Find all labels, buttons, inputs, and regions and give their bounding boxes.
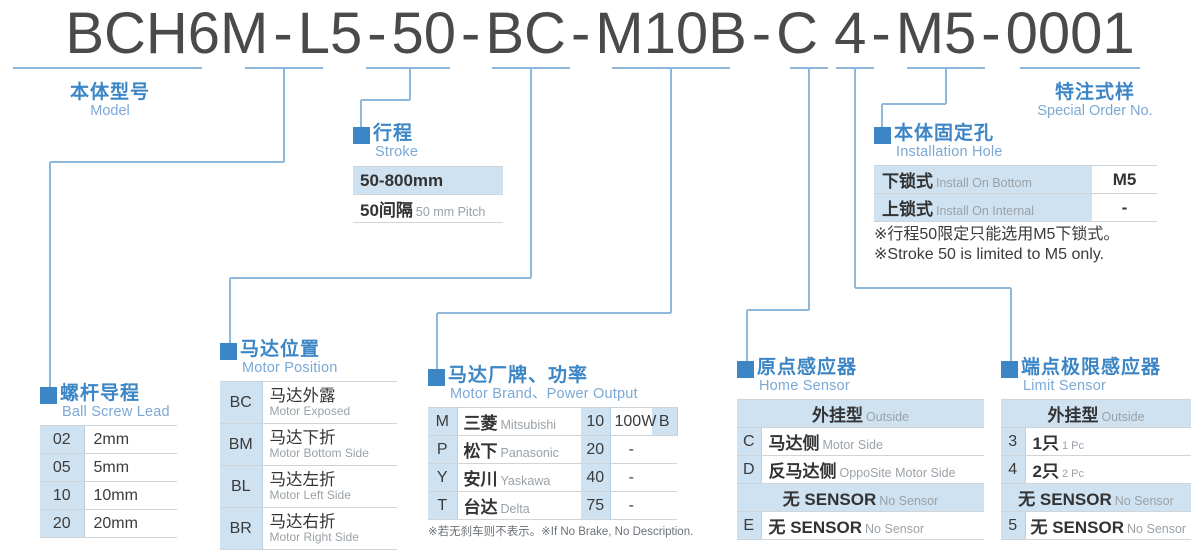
brake-code [652,436,677,464]
group-motor-brand-power-heading: 马达厂牌、功率 [428,366,693,386]
installation-hole-table: 下锁式Install On Bottom M5 上锁式Install On In… [874,165,1157,222]
table-row[interactable]: BC 马达外露 Motor Exposed [220,382,397,424]
model-code-segment-1: L5 [297,0,364,67]
label-model: 本体型号 Model [45,82,175,120]
table-row[interactable]: 02 2mm [40,426,177,454]
brand-name: 台达Delta [457,492,581,520]
install-bottom-cn: 下锁式 [882,172,933,191]
install-bottom-en: Install On Bottom [936,176,1032,190]
motor-position-desc-cn: 马达左折 [270,472,394,489]
limit-sensor-header-en: No Sensor [1115,494,1174,508]
group-motor-position-title-cn: 马达位置 [240,340,320,360]
install-bottom-label: 下锁式Install On Bottom [874,166,1092,194]
motor-position-desc-en: Motor Exposed [270,405,394,417]
installation-hole-note-cn: ※行程50限定只能选用M5下锁式。 [874,226,1119,243]
table-row[interactable]: T 台达Delta 75 - [428,492,677,520]
installation-hole-notes: ※行程50限定只能选用M5下锁式。 ※Stroke 50 is limited … [874,225,1157,265]
bullet-square-icon [428,369,445,386]
install-internal-cn: 上锁式 [882,200,933,219]
brand-name-cn: 松下 [464,442,498,461]
label-special-order-en: Special Order No. [1005,103,1185,120]
model-code-segment-0: BCH6M [64,0,269,67]
home-sensor-header-cn: 无 SENSOR [783,490,877,509]
limit-sensor-desc: 2只2 Pc [1025,456,1191,484]
home-sensor-code: E [737,512,761,540]
limit-sensor-desc-en: 1 Pc [1062,440,1084,452]
limit-sensor-desc-cn: 1只 [1033,434,1059,453]
brand-name-en: Panasonic [501,446,559,460]
group-ball-screw-lead-title-en: Ball Screw Lead [62,404,177,420]
limit-sensor-desc-cn: 无 SENSOR [1031,518,1125,537]
lead-value: 5mm [84,454,177,482]
home-sensor-section-header: 外挂型Outside [737,400,984,428]
group-limit-sensor: 端点极限感应器 Limit Sensor 外挂型Outside 3 1只1 Pc… [1001,358,1191,540]
stroke-range-value: 50-800mm [360,171,443,190]
bullet-square-icon [1001,361,1018,378]
home-sensor-header-cn: 外挂型 [812,406,863,425]
home-sensor-table: 外挂型Outside C 马达侧Motor Side D 反马达侧OppoSit… [737,399,984,540]
power-code: 75 [581,492,610,520]
lead-code: 10 [40,482,84,510]
table-row[interactable]: BR 马达右折 Motor Right Side [220,508,397,550]
table-row[interactable]: 05 5mm [40,454,177,482]
table-row[interactable]: BM 马达下折 Motor Bottom Side [220,424,397,466]
motor-position-desc-en: Motor Right Side [270,531,394,543]
bullet-square-icon [40,387,57,404]
table-row[interactable]: 无 SENSORNo Sensor [1001,484,1191,512]
model-code-title: BCH6M-L5-50-BC-M10B-C 4-M5-0001 [0,2,1200,64]
limit-sensor-desc-en: No Sensor [1127,522,1186,536]
brand-name: 安川Yaskawa [457,464,581,492]
limit-sensor-desc: 无 SENSORNo Sensor [1025,512,1191,540]
brand-name-en: Yaskawa [501,474,551,488]
table-row[interactable]: 上锁式Install On Internal - [874,194,1157,222]
stroke-pitch-en: 50 mm Pitch [416,205,485,219]
power-code: 20 [581,436,610,464]
limit-sensor-code: 4 [1001,456,1025,484]
home-sensor-section-header: 无 SENSORNo Sensor [737,484,984,512]
home-sensor-desc-en: No Sensor [865,522,924,536]
bullet-square-icon [353,127,370,144]
motor-position-table: BC 马达外露 Motor Exposed BM 马达下折 Motor Bott… [220,381,397,550]
table-row[interactable]: 10 10mm [40,482,177,510]
limit-sensor-section-header: 外挂型Outside [1001,400,1191,428]
group-ball-screw-lead-title-cn: 螺杆导程 [60,384,140,404]
install-bottom-value-text: M5 [1113,170,1137,189]
group-limit-sensor-title-cn: 端点极限感应器 [1021,358,1161,378]
lead-code: 20 [40,510,84,538]
limit-sensor-code: 5 [1001,512,1025,540]
model-code-dash: - [567,0,594,67]
table-row[interactable]: 下锁式Install On Bottom M5 [874,166,1157,194]
home-sensor-desc-cn: 反马达侧 [769,462,837,481]
install-internal-value-text: - [1122,198,1128,217]
motor-brand-power-footnote: ※若无刹车则不表示。※If No Brake, No Description. [428,523,693,539]
power-value: - [610,464,652,492]
bullet-square-icon [874,127,891,144]
group-installation-hole-title-en: Installation Hole [896,144,1157,160]
power-code: 10 [581,408,610,436]
brand-code: T [428,492,457,520]
table-row[interactable]: M 三菱Mitsubishi 10 100W B [428,408,677,436]
table-row[interactable]: P 松下Panasonic 20 - [428,436,677,464]
label-special-order: 特注式样 Special Order No. [1005,82,1185,120]
model-code-segment-4: M10B [594,0,748,67]
group-motor-brand-power-title-en: Motor Brand、Power Output [450,386,693,402]
group-home-sensor-title-cn: 原点感应器 [757,358,857,378]
home-sensor-header-en: No Sensor [879,494,938,508]
label-model-cn: 本体型号 [45,82,175,103]
limit-sensor-header-en: Outside [1101,410,1144,424]
bullet-square-icon [220,343,237,360]
table-row[interactable]: BL 马达左折 Motor Left Side [220,466,397,508]
home-sensor-code: D [737,456,761,484]
group-installation-hole-heading: 本体固定孔 [874,124,1157,144]
model-code-segment-5: C 4 [775,0,867,67]
model-code-dash: - [457,0,484,67]
brand-name-en: Mitsubishi [501,418,557,432]
label-special-order-cn: 特注式样 [1005,82,1185,103]
home-sensor-desc: 无 SENSORNo Sensor [761,512,984,540]
motor-position-desc-en: Motor Left Side [270,489,394,501]
ball-screw-lead-table: 02 2mm 05 5mm 10 10mm 20 20mm [40,425,177,538]
motor-position-desc: 马达下折 Motor Bottom Side [262,424,397,466]
limit-sensor-desc-cn: 2只 [1033,462,1059,481]
home-sensor-desc-cn: 马达侧 [769,434,820,453]
power-code: 40 [581,464,610,492]
group-installation-hole: 本体固定孔 Installation Hole 下锁式Install On Bo… [874,124,1157,265]
home-sensor-desc-en: OppoSite Motor Side [840,466,956,480]
motor-position-desc: 马达外露 Motor Exposed [262,382,397,424]
motor-position-code: BC [220,382,262,424]
table-row[interactable]: D 反马达侧OppoSite Motor Side [737,456,984,484]
lead-code: 02 [40,426,84,454]
install-internal-label: 上锁式Install On Internal [874,194,1092,222]
table-row[interactable]: 20 20mm [40,510,177,538]
brand-code: M [428,408,457,436]
limit-sensor-table: 外挂型Outside 3 1只1 Pc 4 2只2 Pc 无 SENSORNo … [1001,399,1191,540]
limit-sensor-desc: 1只1 Pc [1025,428,1191,456]
group-home-sensor: 原点感应器 Home Sensor 外挂型Outside C 马达侧Motor … [737,358,984,540]
group-installation-hole-title-cn: 本体固定孔 [894,124,994,144]
motor-position-code: BR [220,508,262,550]
home-sensor-code: C [737,428,761,456]
motor-position-code: BL [220,466,262,508]
install-bottom-value: M5 [1092,166,1157,194]
motor-position-desc-cn: 马达右折 [270,514,394,531]
label-model-en: Model [45,103,175,120]
group-limit-sensor-heading: 端点极限感应器 [1001,358,1191,378]
table-row[interactable]: C 马达侧Motor Side [737,428,984,456]
motor-position-code: BM [220,424,262,466]
brand-code: Y [428,464,457,492]
brand-name-en: Delta [501,502,530,516]
lead-value: 20mm [84,510,177,538]
limit-sensor-header-cn: 外挂型 [1047,406,1098,425]
motor-brand-power-table: M 三菱Mitsubishi 10 100W B P 松下Panasonic 2… [428,407,678,520]
table-row[interactable]: 5 无 SENSORNo Sensor [1001,512,1191,540]
power-value: - [610,492,652,520]
table-row[interactable]: E 无 SENSORNo Sensor [737,512,984,540]
table-row[interactable]: 50-800mm [353,167,503,195]
group-home-sensor-title-en: Home Sensor [759,378,984,394]
home-sensor-desc-cn: 无 SENSOR [769,518,863,537]
model-code-segment-7: 0001 [1005,0,1136,67]
motor-position-desc-cn: 马达下折 [270,430,394,447]
model-code-dash: - [867,0,894,67]
table-row[interactable]: 4 2只2 Pc [1001,456,1191,484]
motor-position-desc: 马达左折 Motor Left Side [262,466,397,508]
home-sensor-desc-en: Motor Side [823,438,883,452]
power-value: 100W [610,408,652,436]
brake-code [652,464,677,492]
limit-sensor-code: 3 [1001,428,1025,456]
limit-sensor-desc-en: 2 Pc [1062,468,1084,480]
group-motor-position-title-en: Motor Position [242,360,397,376]
group-stroke-title-en: Stroke [375,144,503,160]
motor-position-desc-cn: 马达外露 [270,388,394,405]
group-limit-sensor-title-en: Limit Sensor [1023,378,1191,394]
brand-name: 松下Panasonic [457,436,581,464]
limit-sensor-header-cn: 无 SENSOR [1018,490,1112,509]
brand-code: P [428,436,457,464]
stroke-pitch-cell: 50间隔50 mm Pitch [353,195,503,223]
table-row[interactable]: 3 1只1 Pc [1001,428,1191,456]
model-code-segment-2: 50 [391,0,458,67]
motor-position-desc: 马达右折 Motor Right Side [262,508,397,550]
group-stroke-title-cn: 行程 [373,124,413,144]
bullet-square-icon [737,361,754,378]
lead-value: 10mm [84,482,177,510]
motor-position-desc-en: Motor Bottom Side [270,447,394,459]
installation-hole-note-en: ※Stroke 50 is limited to M5 only. [874,246,1104,263]
stroke-range-cell: 50-800mm [353,167,503,195]
home-sensor-header-en: Outside [866,410,909,424]
brand-name-cn: 台达 [464,498,498,517]
lead-code: 05 [40,454,84,482]
group-ball-screw-lead: 螺杆导程 Ball Screw Lead 02 2mm 05 5mm 10 10… [40,384,177,538]
model-code-dash: - [748,0,775,67]
group-home-sensor-heading: 原点感应器 [737,358,984,378]
model-code-dash: - [363,0,390,67]
install-internal-en: Install On Internal [936,204,1034,218]
table-row[interactable]: 无 SENSORNo Sensor [737,484,984,512]
limit-sensor-section-header: 无 SENSORNo Sensor [1001,484,1191,512]
table-row[interactable]: 外挂型Outside [1001,400,1191,428]
brand-name-cn: 安川 [464,470,498,489]
group-stroke-heading: 行程 [353,124,503,144]
model-code-segment-3: BC [484,0,567,67]
stroke-table: 50-800mm 50间隔50 mm Pitch [353,166,503,223]
table-row[interactable]: 50间隔50 mm Pitch [353,195,503,223]
home-sensor-desc: 反马达侧OppoSite Motor Side [761,456,984,484]
group-motor-position: 马达位置 Motor Position BC 马达外露 Motor Expose… [220,340,397,550]
brake-code [652,492,677,520]
table-row[interactable]: 外挂型Outside [737,400,984,428]
group-motor-brand-power: 马达厂牌、功率 Motor Brand、Power Output M 三菱Mit… [428,366,693,539]
lead-value: 2mm [84,426,177,454]
stroke-pitch-cn: 50间隔 [360,201,413,220]
brand-name-cn: 三菱 [464,414,498,433]
power-value: - [610,436,652,464]
home-sensor-desc: 马达侧Motor Side [761,428,984,456]
model-code-segment-6: M5 [895,0,978,67]
model-code-dash: - [977,0,1004,67]
group-motor-brand-power-title-cn: 马达厂牌、功率 [448,366,588,386]
model-code-dash: - [269,0,296,67]
brand-name: 三菱Mitsubishi [457,408,581,436]
table-row[interactable]: Y 安川Yaskawa 40 - [428,464,677,492]
group-stroke: 行程 Stroke 50-800mm 50间隔50 mm Pitch [353,124,503,223]
group-motor-position-heading: 马达位置 [220,340,397,360]
install-internal-value: - [1092,194,1157,222]
group-ball-screw-lead-heading: 螺杆导程 [40,384,177,404]
